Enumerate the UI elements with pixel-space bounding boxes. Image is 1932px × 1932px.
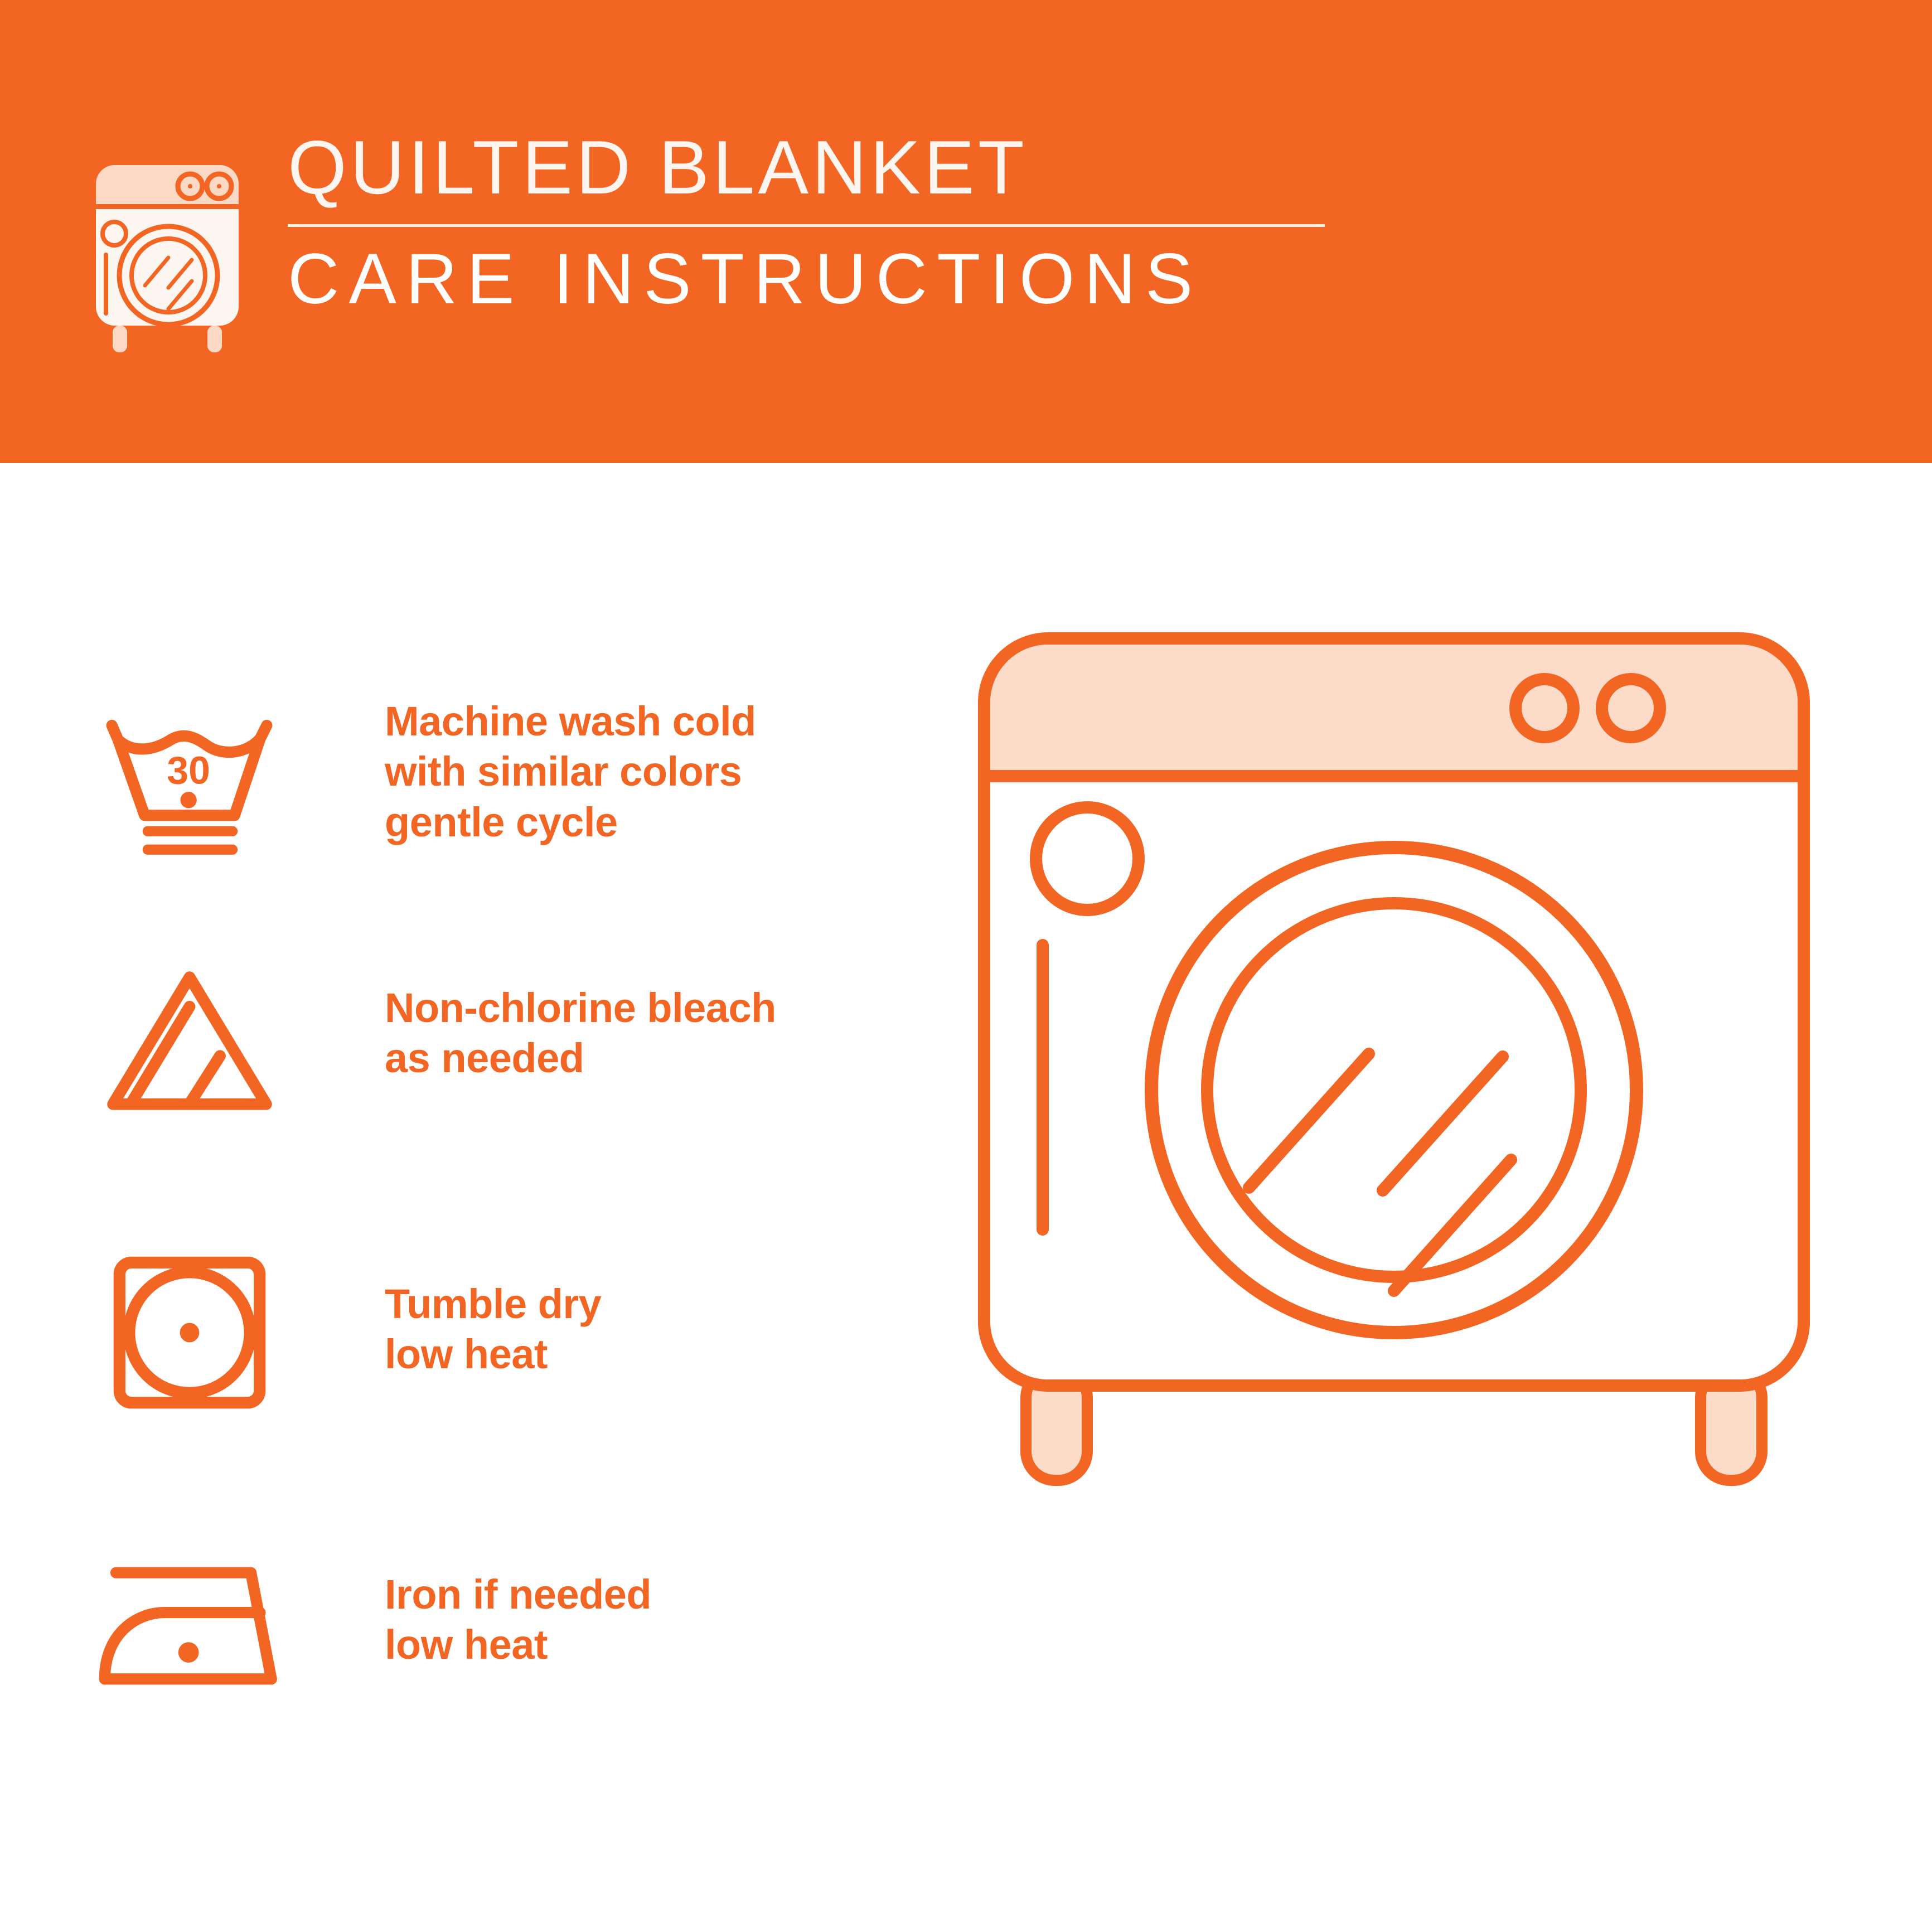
- page-header: QUILTED BLANKET CARE INSTRUCTIONS: [0, 0, 1932, 463]
- care-row: Tumble dry low heat: [89, 1232, 948, 1433]
- care-row-text: Iron if needed low heat: [290, 1525, 948, 1670]
- wash-temperature-value: 30: [167, 748, 210, 792]
- care-row-text: Non-chlorine bleach as needed: [290, 940, 948, 1084]
- care-text-line: with similar colors: [385, 747, 948, 797]
- care-text-line: Non-chlorine bleach: [385, 983, 948, 1033]
- care-text-line: Tumble dry: [385, 1279, 948, 1329]
- non-chlorine-bleach-triangle-icon: [89, 940, 290, 1140]
- front-load-washing-machine-illustration: [953, 613, 1890, 1868]
- care-text-line: Iron if needed: [385, 1570, 948, 1620]
- care-text-line: low heat: [385, 1620, 948, 1670]
- care-text-line: low heat: [385, 1329, 948, 1379]
- care-row-text: Machine wash cold with similar colors ge…: [290, 683, 948, 848]
- header-content: QUILTED BLANKET CARE INSTRUCTIONS: [84, 129, 1325, 354]
- care-row-text: Tumble dry low heat: [290, 1232, 948, 1380]
- care-instruction-list: 30 Machine wash cold with similar colors…: [0, 463, 959, 1932]
- page-subtitle: CARE INSTRUCTIONS: [284, 244, 1325, 315]
- header-title-block: QUILTED BLANKET CARE INSTRUCTIONS: [284, 129, 1325, 315]
- tumble-dry-low-heat-icon: [89, 1232, 290, 1433]
- care-text-line: as needed: [385, 1033, 948, 1083]
- care-row: 30 Machine wash cold with similar colors…: [89, 683, 948, 884]
- washing-machine-logo-icon: [84, 142, 251, 354]
- wash-tub-30-gentle-icon: 30: [89, 683, 290, 884]
- page-title: QUILTED BLANKET: [284, 129, 1325, 205]
- iron-low-heat-icon: [89, 1525, 290, 1726]
- care-text-line: gentle cycle: [385, 797, 948, 848]
- care-row: Non-chlorine bleach as needed: [89, 940, 948, 1140]
- care-row: Iron if needed low heat: [89, 1525, 948, 1726]
- title-divider: [288, 224, 1325, 227]
- care-text-line: Machine wash cold: [385, 696, 948, 747]
